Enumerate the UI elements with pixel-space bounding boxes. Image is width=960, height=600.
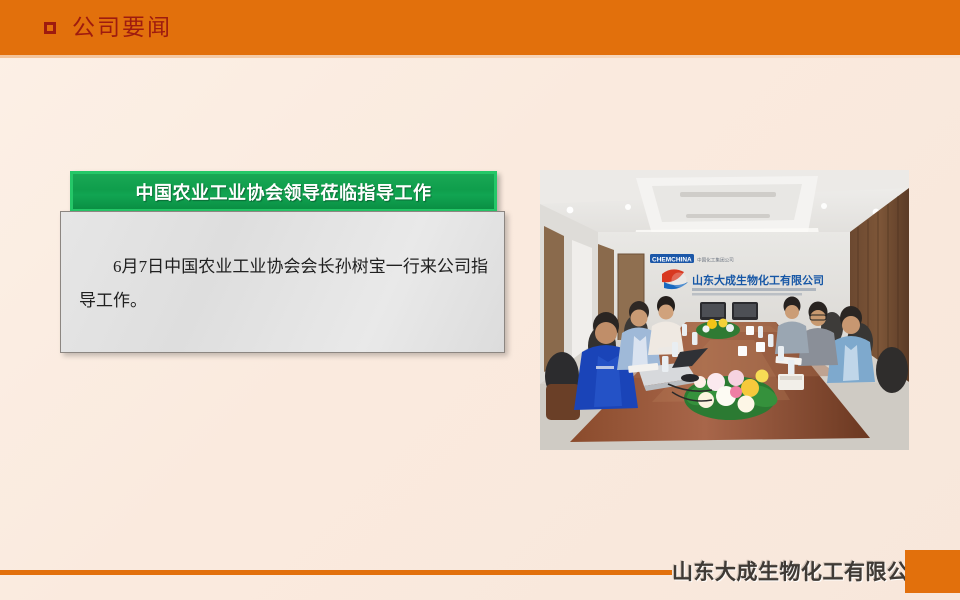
svg-text:CHEMCHINA: CHEMCHINA bbox=[652, 257, 692, 264]
page-title: 公司要闻 bbox=[72, 16, 172, 39]
slide: 公司要闻 中国农业工业协会领导莅临指导工作 6月7日中国农业工业协会会长孙树宝一… bbox=[0, 0, 960, 600]
news-caption-text: 中国农业工业协会领导莅临指导工作 bbox=[136, 179, 432, 205]
header-inner: 公司要闻 bbox=[44, 0, 172, 55]
header-underline bbox=[0, 55, 960, 58]
header-bar: 公司要闻 bbox=[0, 0, 960, 55]
meeting-photo-image: CHEMCHINA 中国化工集团公司 山东大成生物化工有限公司 bbox=[540, 170, 909, 450]
footer-company-name: 山东大成生物化工有限公司 bbox=[672, 556, 930, 586]
news-body-text: 6月7日中国农业工业协会会长孙树宝一行来公司指导工作。 bbox=[79, 250, 488, 318]
svg-text:中国化工集团公司: 中国化工集团公司 bbox=[697, 257, 734, 264]
square-bullet-icon bbox=[44, 22, 56, 34]
meeting-photo: CHEMCHINA 中国化工集团公司 山东大成生物化工有限公司 bbox=[540, 170, 909, 450]
news-caption-bar: 中国农业工业协会领导莅临指导工作 bbox=[70, 171, 497, 212]
news-body-box: 6月7日中国农业工业协会会长孙树宝一行来公司指导工作。 bbox=[60, 211, 505, 353]
footer-rule bbox=[0, 570, 672, 575]
svg-text:山东大成生物化工有限公司: 山东大成生物化工有限公司 bbox=[692, 273, 824, 287]
footer-accent-block bbox=[905, 550, 960, 593]
